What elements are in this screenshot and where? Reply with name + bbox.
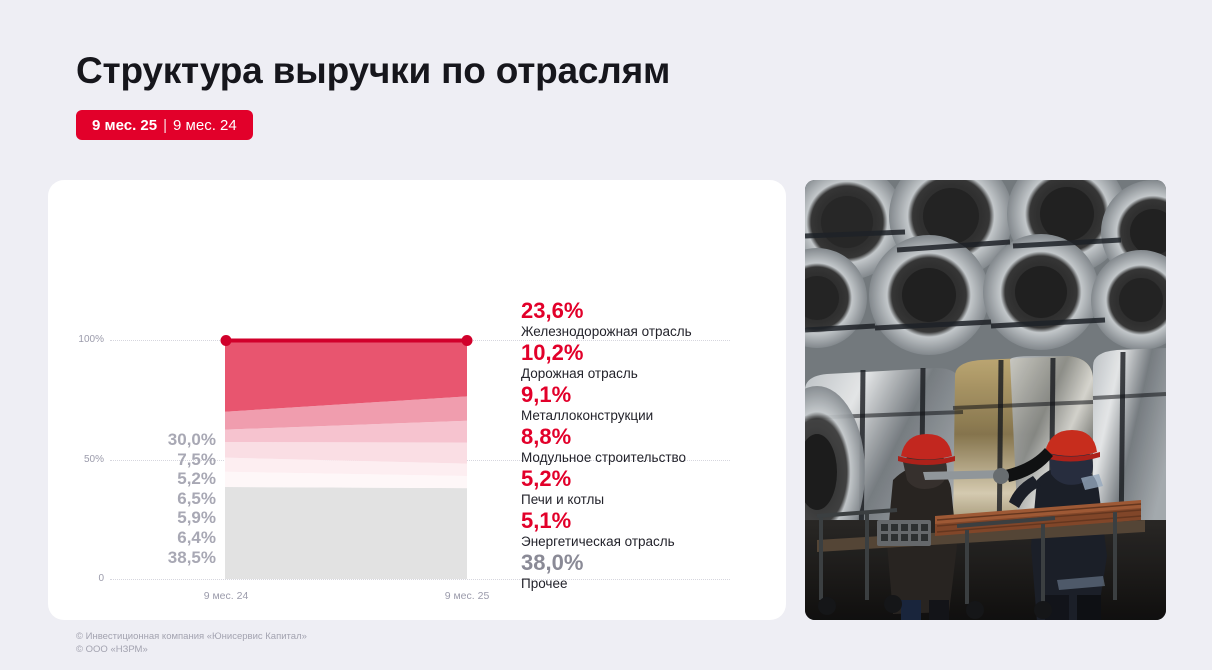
footer-line-2: © ООО «НЗРМ»	[76, 643, 307, 656]
period-badge[interactable]: 9 мес. 25 | 9 мес. 24	[76, 110, 253, 140]
series-value-4: 5,2%	[521, 466, 771, 491]
series-label-2: 9,1% Металлоконструкции	[521, 382, 771, 424]
left-value-5: 6,4%	[128, 528, 216, 548]
page-title: Структура выручки по отраслям	[76, 50, 670, 92]
series-value-1: 10,2%	[521, 340, 771, 365]
left-value-4: 5,9%	[128, 508, 216, 528]
footer-line-1: © Инвестиционная компания «Юнисервис Кап…	[76, 630, 307, 643]
series-value-0: 23,6%	[521, 298, 771, 323]
series-value-3: 8,8%	[521, 424, 771, 449]
left-value-labels: 30,0% 7,5% 5,2% 6,5% 5,9% 6,4% 38,5%	[128, 430, 216, 567]
series-label-0: 23,6% Железнодорожная отрасль	[521, 298, 771, 340]
right-value-labels: 23,6% Железнодорожная отрасль 10,2% Доро…	[521, 298, 771, 592]
left-value-3: 6,5%	[128, 489, 216, 509]
left-value-6: 38,5%	[128, 548, 216, 568]
series-name-4: Печи и котлы	[521, 491, 771, 508]
series-label-5: 5,1% Энергетическая отрасль	[521, 508, 771, 550]
x-tick-cur: 9 мес. 25	[407, 590, 527, 602]
series-name-5: Энергетическая отрасль	[521, 533, 771, 550]
left-value-0: 30,0%	[128, 430, 216, 450]
series-name-3: Модульное строительство	[521, 449, 771, 466]
left-value-1: 7,5%	[128, 450, 216, 470]
series-label-3: 8,8% Модульное строительство	[521, 424, 771, 466]
series-label-6: 38,0% Прочее	[521, 550, 771, 592]
revenue-structure-area-chart: 100% 50% 0	[48, 180, 786, 620]
series-label-1: 10,2% Дорожная отрасль	[521, 340, 771, 382]
factory-photo-illustration	[805, 180, 1166, 620]
badge-previous-period: 9 мес. 24	[173, 117, 237, 134]
left-value-2: 5,2%	[128, 469, 216, 489]
series-value-5: 5,1%	[521, 508, 771, 533]
series-name-6: Прочее	[521, 575, 771, 592]
badge-separator: |	[157, 117, 173, 134]
series-value-6: 38,0%	[521, 550, 771, 575]
factory-photo	[805, 180, 1166, 620]
x-tick-prev: 9 мес. 24	[166, 590, 286, 602]
badge-current-period: 9 мес. 25	[92, 117, 157, 134]
series-name-2: Металлоконструкции	[521, 407, 771, 424]
series-value-2: 9,1%	[521, 382, 771, 407]
series-label-4: 5,2% Печи и котлы	[521, 466, 771, 508]
series-name-0: Железнодорожная отрасль	[521, 323, 771, 340]
chart-card: 100% 50% 0	[48, 180, 786, 620]
footer-credits: © Инвестиционная компания «Юнисервис Кап…	[76, 630, 307, 656]
slide-root: Структура выручки по отраслям 9 мес. 25 …	[0, 0, 1212, 670]
series-name-1: Дорожная отрасль	[521, 365, 771, 382]
